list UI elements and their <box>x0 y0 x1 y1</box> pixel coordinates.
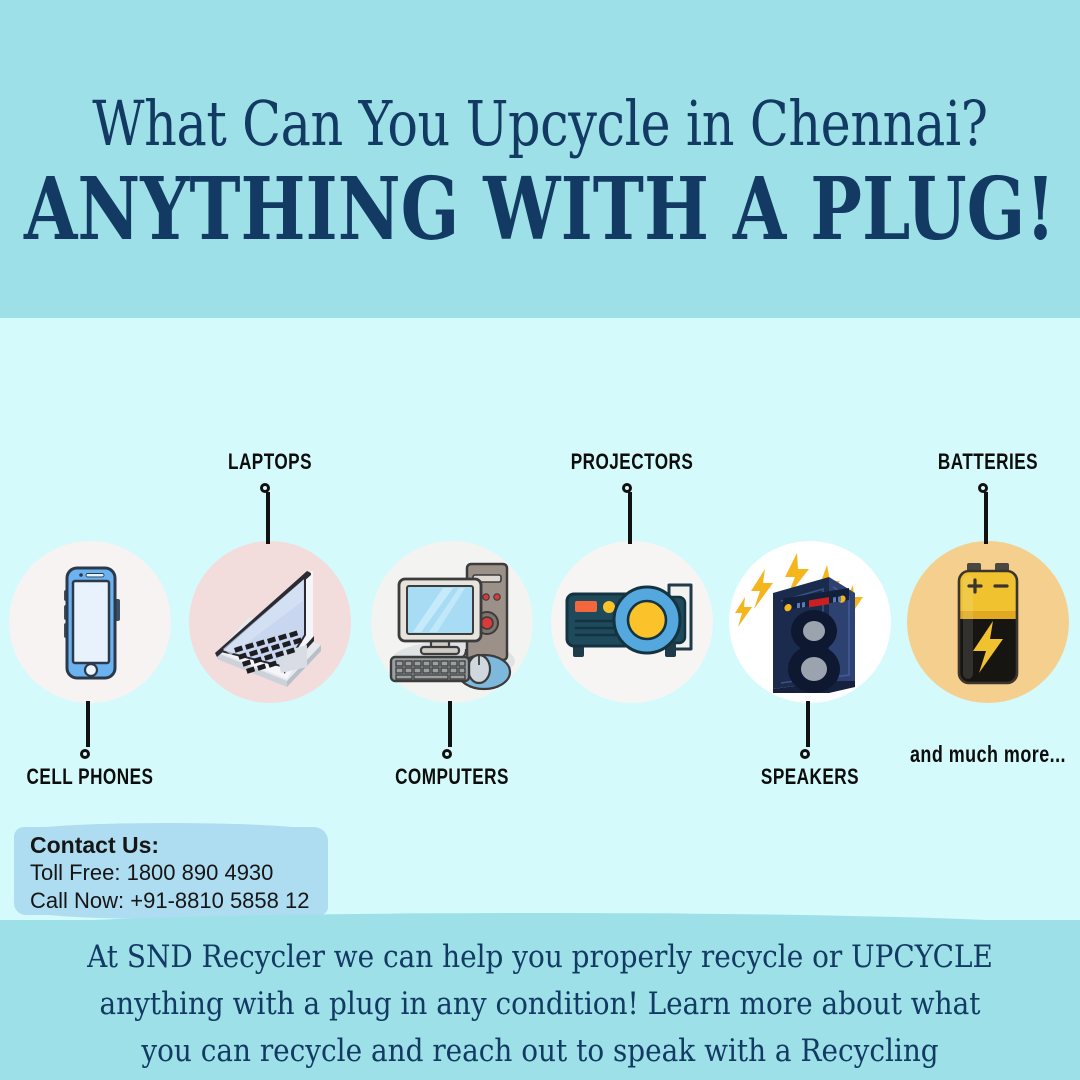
pin-connector-speakers <box>800 701 820 759</box>
laptop-icon <box>189 541 351 703</box>
infographic-poster: What Can You Upcycle in Chennai? ANYTHIN… <box>0 0 1080 1080</box>
pin-connector-projectors <box>622 483 642 545</box>
pin-connector-batteries <box>978 483 998 545</box>
contact-heading: Contact Us: <box>30 831 350 859</box>
item-label-speakers: SPEAKERS <box>732 764 888 790</box>
pin-connector-laptops <box>260 483 280 545</box>
contact-call-now[interactable]: Call Now: +91-8810 5858 12 <box>30 887 350 915</box>
headline-question: What Can You Upcycle in Chennai? <box>92 91 987 156</box>
footer-paragraph: At SND Recycler we can help you properly… <box>72 934 1008 1080</box>
footer-banner: At SND Recycler we can help you properly… <box>0 920 1080 1080</box>
item-label-laptops: LAPTOPS <box>192 449 348 475</box>
projector-icon <box>551 541 713 703</box>
contact-block: Contact Us: Toll Free: 1800 890 4930 Cal… <box>30 831 350 915</box>
pin-connector-computers <box>442 701 462 759</box>
headline-answer: ANYTHING WITH A PLUG! <box>24 167 1056 253</box>
item-label-batteries: BATTERIES <box>910 449 1066 475</box>
item-label-projectors: PROJECTORS <box>554 449 710 475</box>
item-label-computers: COMPUTERS <box>374 764 530 790</box>
item-label-cell-phones: CELL PHONES <box>12 764 168 790</box>
smartphone-icon <box>9 541 171 703</box>
desktop-computer-icon <box>371 541 533 703</box>
extra-note-label: and much more... <box>902 741 1074 768</box>
contact-toll-free[interactable]: Toll Free: 1800 890 4930 <box>30 859 350 887</box>
speaker-icon <box>729 541 891 703</box>
header-banner: What Can You Upcycle in Chennai? ANYTHIN… <box>0 0 1080 318</box>
battery-icon <box>907 541 1069 703</box>
pin-connector-cell-phones <box>80 701 100 759</box>
